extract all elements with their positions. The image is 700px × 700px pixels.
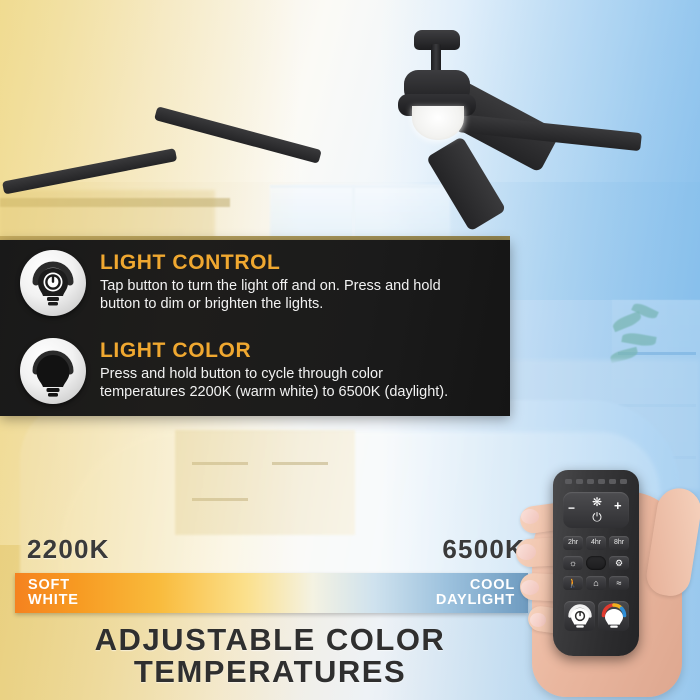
power-icon[interactable]: ⏻: [591, 511, 603, 524]
fingernail: [530, 613, 546, 627]
fan-speed-gear-icon[interactable]: ⚙: [609, 556, 629, 570]
light-power-bulb-icon[interactable]: [564, 601, 595, 631]
kelvin-low-value: 2200K: [27, 534, 110, 565]
mode-row: ☼ ⚙: [563, 556, 629, 570]
dresser-drawer: [272, 462, 328, 465]
increase-button[interactable]: +: [614, 501, 622, 511]
fan-light-dome: [412, 106, 464, 140]
kelvin-high-value: 6500K: [420, 534, 525, 565]
decrease-button[interactable]: −: [568, 503, 575, 513]
headline-line1: ADJUSTABLE COLOR: [0, 624, 540, 656]
feature-description: Press and hold button to cycle through c…: [100, 365, 460, 402]
timer-8hr-button[interactable]: 8hr: [609, 536, 629, 550]
marketing-image: LIGHT CONTROL Tap button to turn the lig…: [0, 0, 700, 700]
barn-door-rail: [0, 198, 230, 207]
walking-person-icon[interactable]: 🚶: [563, 576, 583, 590]
fan-blade-icon[interactable]: ❋: [591, 496, 603, 508]
dresser: [175, 430, 355, 535]
feature-title: LIGHT CONTROL: [100, 252, 460, 274]
timer-row: 2hr 4hr 8hr: [563, 536, 629, 550]
home-icon[interactable]: ⌂: [586, 576, 606, 590]
window-frame-top: [270, 185, 450, 188]
feature-light-color: LIGHT COLOR Press and hold button to cyc…: [20, 338, 460, 404]
timer-4hr-button[interactable]: 4hr: [586, 536, 606, 550]
dresser-drawer: [192, 462, 248, 465]
remote-vents: [565, 479, 627, 484]
brightness-sun-icon[interactable]: ☼: [563, 556, 583, 570]
light-color-bulb-icon: [20, 338, 86, 404]
fingernail: [517, 544, 536, 560]
dresser-drawer: [192, 498, 248, 501]
dimmer-slider-icon[interactable]: [586, 556, 606, 570]
fingernail: [521, 580, 539, 595]
soft-white-line2: WHITE: [28, 593, 79, 608]
cool-daylight-line2: DAYLIGHT: [300, 593, 515, 608]
soft-white-label: SOFT WHITE: [28, 578, 79, 608]
breeze-waves-icon[interactable]: ≈: [609, 576, 629, 590]
scene-row: 🚶 ⌂ ≈: [563, 576, 629, 590]
fingernail: [521, 509, 539, 524]
timer-2hr-button[interactable]: 2hr: [563, 536, 583, 550]
feature-description: Tap button to turn the light off and on.…: [100, 277, 460, 314]
light-control-bulb-power-icon: [20, 250, 86, 316]
headline: ADJUSTABLE COLOR TEMPERATURES: [0, 624, 540, 687]
headline-line2: TEMPERATURES: [0, 656, 540, 688]
cool-daylight-line1: COOL: [300, 578, 515, 593]
color-temperature-bulb-icon[interactable]: [598, 601, 629, 631]
ceiling-fan: [300, 22, 600, 154]
feature-light-control: LIGHT CONTROL Tap button to turn the lig…: [20, 250, 460, 316]
cool-daylight-label: COOL DAYLIGHT: [300, 578, 515, 608]
soft-white-line1: SOFT: [28, 578, 79, 593]
remote-control: ❋ − + ⏻ 2hr 4hr 8hr ☼ ⚙ 🚶 ⌂ ≈: [553, 470, 639, 656]
feature-title: LIGHT COLOR: [100, 340, 460, 362]
